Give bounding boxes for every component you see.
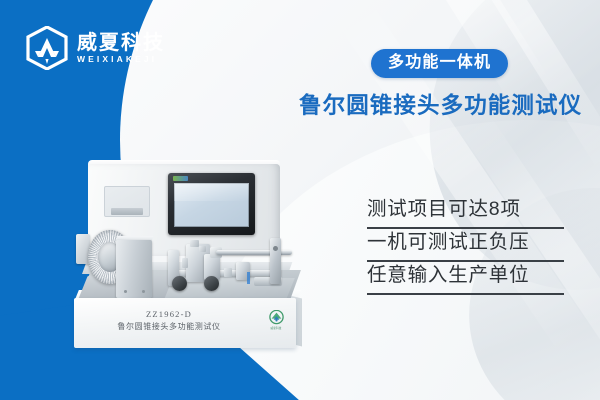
machine-name-label: 鲁尔圆锥接头多功能测试仪 [74, 321, 264, 332]
hmi-vendor-label-icon [173, 176, 188, 181]
machine-model-label: ZZ1962-D [74, 309, 264, 319]
fitting-detail [199, 246, 206, 252]
machine-access-panel-handle [111, 208, 143, 215]
bracket-hole-icon [273, 246, 278, 251]
fitting-detail [224, 268, 232, 277]
feature-divider [367, 293, 564, 295]
fitting-detail [190, 240, 199, 247]
hexagon-mountain-logo-icon [26, 26, 68, 70]
feature-text: 一机可测试正负压 [367, 229, 567, 260]
machine-brandmark-text: 威夏科技 [270, 326, 281, 330]
list-item: 任意输入生产单位 [367, 262, 567, 295]
headline-badge: 多功能一体机 [371, 49, 508, 78]
poster-canvas: 威夏科技 WEIXIAKEJI 多功能一体机 鲁尔圆锥接头多功能测试仪 测试项目… [0, 0, 600, 400]
fitting-detail [182, 258, 188, 268]
l-bracket-upright [270, 238, 281, 284]
brand-name-en: WEIXIAKEJI [77, 55, 165, 64]
adjustment-knob[interactable] [204, 276, 219, 291]
brand-name-cn: 威夏科技 [77, 33, 165, 54]
feature-list: 测试项目可达8项 一机可测试正负压 任意输入生产单位 [367, 196, 567, 295]
list-item: 一机可测试正负压 [367, 229, 567, 262]
list-item: 测试项目可达8项 [367, 196, 567, 229]
feature-text: 测试项目可达8项 [367, 196, 567, 227]
green-circular-brandmark-icon [268, 310, 285, 325]
brand-logo: 威夏科技 WEIXIAKEJI [26, 26, 165, 70]
blue-accent-marker [247, 272, 250, 284]
page-title: 鲁尔圆锥接头多功能测试仪 [299, 92, 582, 119]
screw-icon [142, 290, 145, 293]
hmi-screen-glare [174, 183, 249, 201]
product-photo: ZZ1962-D 鲁尔圆锥接头多功能测试仪 威夏科技 [64, 158, 334, 373]
brand-logo-text: 威夏科技 WEIXIAKEJI [77, 33, 165, 64]
machine-brandmark: 威夏科技 [265, 310, 287, 336]
feature-text: 任意输入生产单位 [367, 262, 567, 293]
adjustment-knob[interactable] [172, 276, 187, 291]
dial-support-bracket [116, 240, 152, 298]
screw-icon [124, 290, 127, 293]
